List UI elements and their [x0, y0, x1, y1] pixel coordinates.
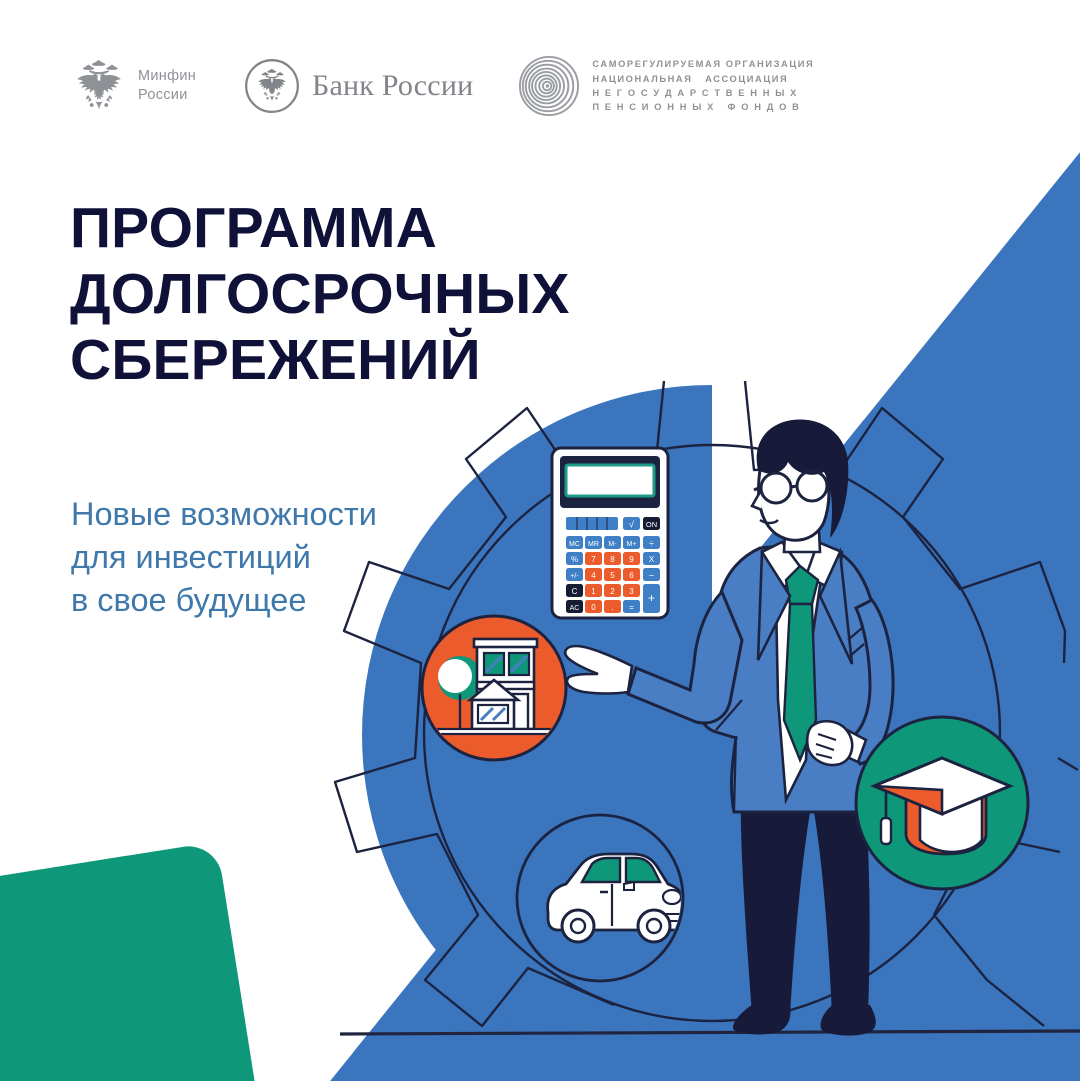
svg-text:8: 8 [610, 555, 615, 564]
svg-text:MR: MR [588, 541, 599, 548]
figure-tie [786, 566, 818, 604]
calculator-row-memory: MC MR M- M+ ÷ [566, 536, 660, 549]
calculator-solar-cells [577, 517, 607, 530]
napf-spiral-icon [518, 55, 580, 117]
figure-cuff-right [828, 724, 866, 762]
figure-trousers [741, 760, 870, 1015]
svg-text:0: 0 [591, 603, 596, 612]
calculator-key-sqrt: √ [629, 520, 634, 530]
logo-bar: Минфин России [70, 55, 814, 117]
figure-shirt [776, 546, 822, 800]
svg-text:1: 1 [591, 587, 596, 596]
svg-text:M-: M- [608, 541, 617, 548]
figure-collar-right [806, 542, 842, 592]
blue-disc-lobe [362, 385, 712, 1081]
svg-text:C: C [572, 587, 578, 596]
svg-text:=: = [629, 603, 634, 612]
figure-hand-right [807, 721, 852, 765]
gear-outline-decor [327, 377, 1078, 1081]
svg-text:−: − [649, 571, 654, 581]
svg-text:7: 7 [591, 555, 596, 564]
education-badge [856, 717, 1028, 889]
figure-arm-left [628, 592, 742, 723]
svg-text:M+: M+ [627, 541, 637, 548]
figure-lapel-right [820, 552, 852, 664]
figure-face [759, 444, 829, 540]
calculator-row-1-2-3: C 1 2 3 + [566, 584, 660, 613]
svg-text:X: X [649, 555, 655, 564]
svg-text:6: 6 [629, 571, 634, 580]
businessman-presenter [565, 419, 893, 1035]
logo-minfin-label: Минфин России [138, 67, 196, 104]
housing-badge [422, 616, 566, 760]
figure-jacket-lines [716, 628, 864, 812]
figure-tie-body [784, 604, 816, 760]
page-subtitle: Новые возможности для инвестиций в свое … [71, 493, 377, 622]
calculator-display [566, 465, 654, 496]
svg-text:9: 9 [629, 555, 634, 564]
svg-text:4: 4 [591, 571, 596, 580]
svg-text:2: 2 [610, 587, 615, 596]
gear-outline-overlay [335, 381, 1078, 1026]
calculator-row-0: AC 0 . = [566, 600, 640, 613]
figure-glasses [754, 471, 827, 503]
ground-line [340, 1031, 1080, 1034]
svg-text:%: % [571, 555, 578, 564]
page-title: ПРОГРАММА ДОЛГОСРОЧНЫХ СБЕРЕЖЕНИЙ [70, 196, 570, 393]
calculator-key-on: ON [646, 520, 657, 529]
svg-text:.: . [611, 603, 613, 612]
figure-shoe-left [733, 1005, 791, 1034]
figure-lapel-left [758, 552, 790, 660]
double-headed-eagle-emblem-icon [70, 57, 128, 115]
figure-arm-right [848, 600, 893, 764]
logo-minfin-rossii: Минфин России [70, 57, 196, 115]
figure-neck [784, 510, 820, 552]
figure-shoe-right [820, 1005, 875, 1036]
svg-text:+: + [648, 591, 655, 605]
teal-corner-shape [0, 838, 300, 1081]
svg-text:MC: MC [569, 541, 580, 548]
figure-hand-left [565, 646, 632, 694]
figure-jacket [699, 546, 882, 812]
svg-text:+/-: +/- [570, 573, 579, 580]
car-badge [517, 815, 686, 981]
figure-profile [752, 492, 762, 510]
logo-bank-rossii: Банк России [244, 58, 473, 114]
figure-collar [762, 542, 804, 596]
logo-napf-label: САМОРЕГУЛИРУЕМАЯ ОРГАНИЗАЦИЯ НАЦИОНАЛЬНА… [592, 57, 814, 115]
bank-of-russia-eagle-icon [244, 58, 300, 114]
logo-napf: САМОРЕГУЛИРУЕМАЯ ОРГАНИЗАЦИЯ НАЦИОНАЛЬНА… [518, 55, 814, 117]
logo-bank-rossii-label: Банк России [312, 67, 473, 105]
figure-hair [757, 419, 849, 538]
svg-text:5: 5 [610, 571, 615, 580]
svg-text:AC: AC [570, 605, 580, 612]
figure-hand-lines [816, 734, 836, 758]
calculator-row-7-8-9: % 7 8 9 X [566, 552, 660, 565]
calculator-row-4-5-6: +/- 4 5 6 − [566, 568, 660, 581]
svg-text:3: 3 [629, 587, 634, 596]
poster-canvas: Минфин России [0, 0, 1080, 1081]
figure-mouth [760, 520, 778, 523]
svg-text:÷: ÷ [649, 539, 654, 549]
calculator: √ ON MC MR M- M+ ÷ % 7 8 9 [552, 448, 668, 618]
